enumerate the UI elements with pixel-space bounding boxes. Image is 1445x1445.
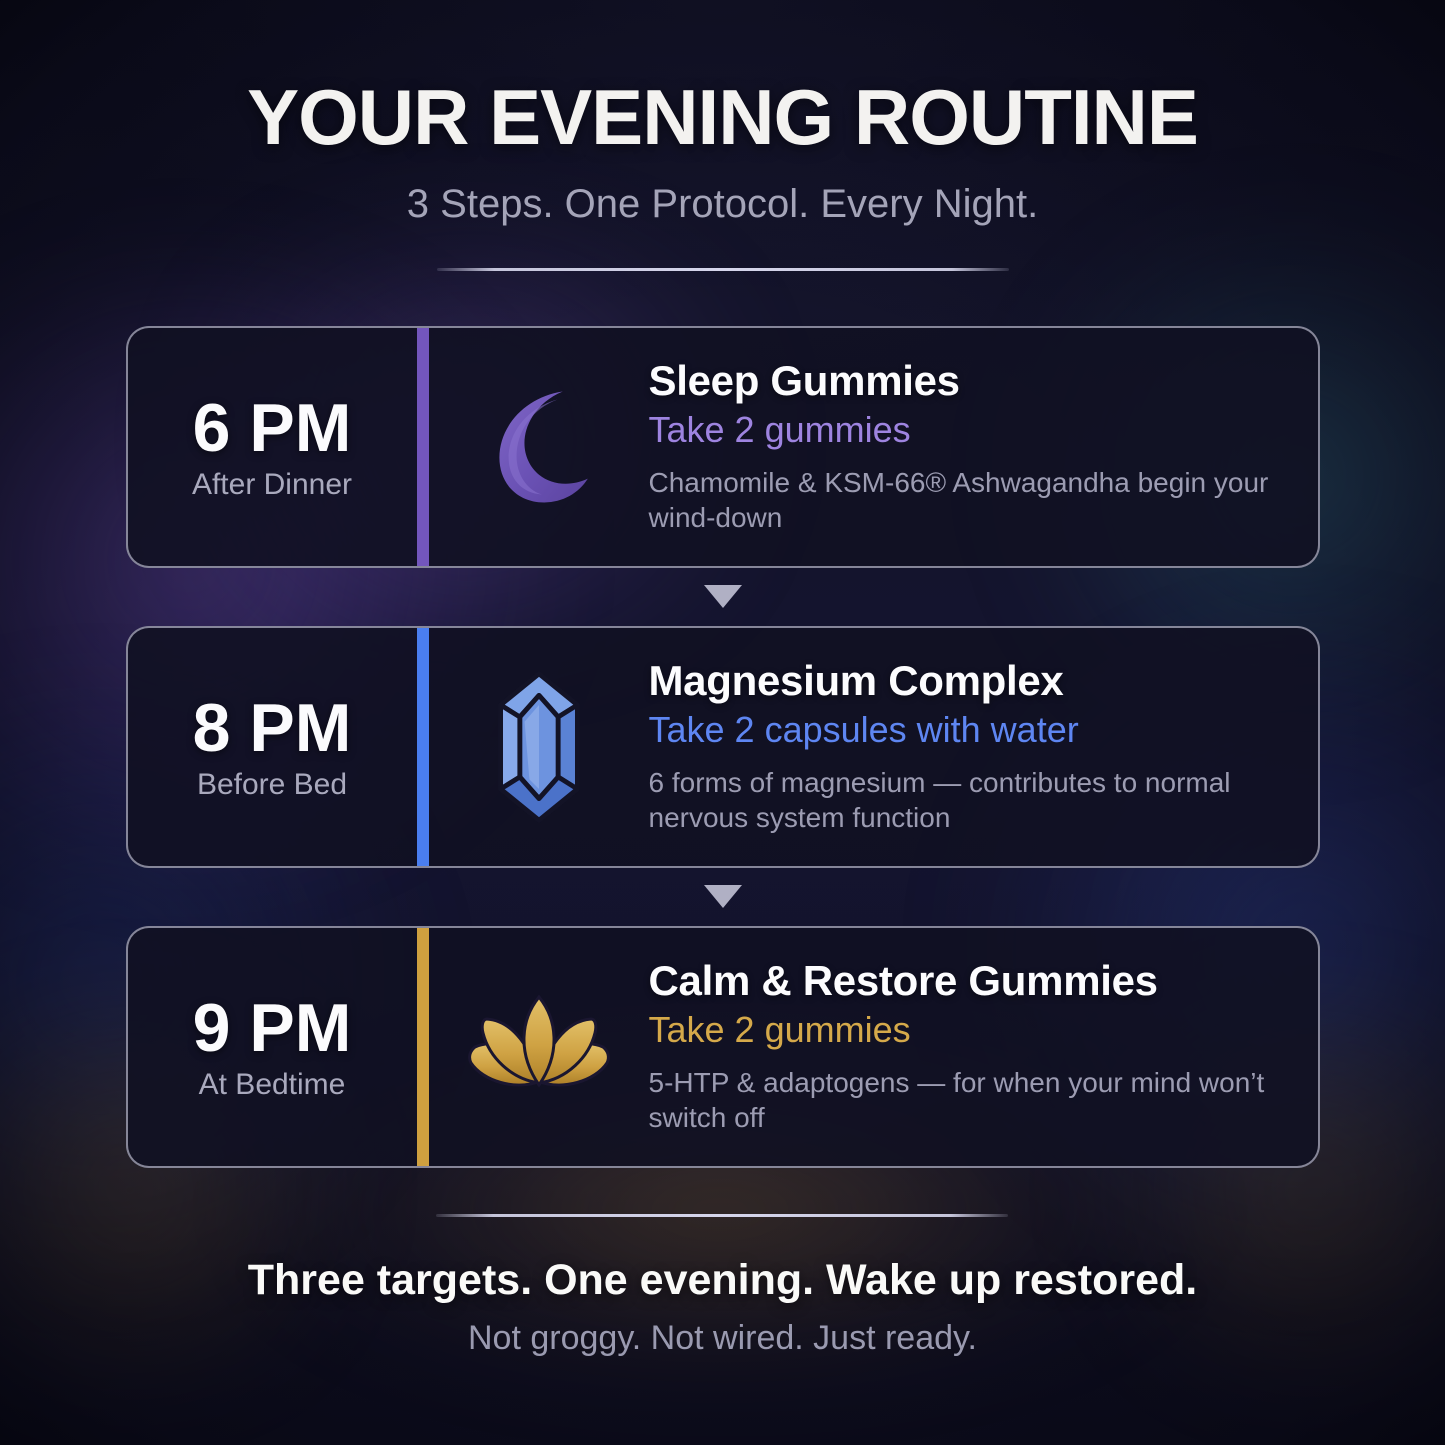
routine-step-card[interactable]: 9 PM At Bedtime (126, 926, 1320, 1168)
step-time: 8 PM (193, 694, 352, 762)
routine-step-card[interactable]: 8 PM Before Bed (126, 626, 1320, 868)
step-when: At Bedtime (199, 1068, 346, 1101)
infographic-root: YOUR EVENING ROUTINE 3 Steps. One Protoc… (0, 0, 1445, 1445)
step-time: 6 PM (193, 394, 352, 462)
divider-bottom (436, 1214, 1008, 1217)
step-icon-wrap (429, 328, 649, 566)
arrow-down-icon (704, 585, 742, 609)
step-description: 5-HTP & adaptogens — for when your mind … (649, 1065, 1290, 1137)
footer-headline: Three targets. One evening. Wake up rest… (248, 1257, 1197, 1304)
step-time: 9 PM (193, 994, 352, 1062)
step-heading: Magnesium Complex (649, 658, 1290, 703)
arrow-down-icon (704, 885, 742, 909)
step-when: Before Bed (197, 768, 347, 801)
page-subtitle: 3 Steps. One Protocol. Every Night. (407, 182, 1038, 226)
step-time-column: 8 PM Before Bed (128, 628, 417, 866)
step-text-column: Magnesium Complex Take 2 capsules with w… (649, 628, 1318, 866)
step-text-column: Sleep Gummies Take 2 gummies Chamomile &… (649, 328, 1318, 566)
step-connector (126, 868, 1320, 926)
routine-steps-list: 6 PM After Dinner (126, 326, 1320, 1168)
step-dose: Take 2 capsules with water (649, 709, 1290, 750)
step-heading: Sleep Gummies (649, 358, 1290, 403)
gem-icon (479, 669, 599, 825)
step-icon-wrap (429, 628, 649, 866)
step-time-column: 6 PM After Dinner (128, 328, 417, 566)
step-connector (126, 568, 1320, 626)
routine-step-card[interactable]: 6 PM After Dinner (126, 326, 1320, 568)
step-accent-bar (417, 928, 429, 1166)
divider-top (437, 268, 1009, 271)
step-description: Chamomile & KSM-66® Ashwagandha begin yo… (649, 465, 1290, 537)
page-title: YOUR EVENING ROUTINE (247, 78, 1198, 156)
step-description: 6 forms of magnesium — contributes to no… (649, 765, 1290, 837)
step-accent-bar (417, 328, 429, 566)
step-accent-bar (417, 628, 429, 866)
step-dose: Take 2 gummies (649, 409, 1290, 450)
footer: Three targets. One evening. Wake up rest… (248, 1214, 1197, 1358)
step-when: After Dinner (192, 468, 352, 501)
step-time-column: 9 PM At Bedtime (128, 928, 417, 1166)
step-heading: Calm & Restore Gummies (649, 958, 1290, 1003)
footer-subtext: Not groggy. Not wired. Just ready. (468, 1320, 977, 1357)
step-text-column: Calm & Restore Gummies Take 2 gummies 5-… (649, 928, 1318, 1166)
lotus-flower-icon (457, 991, 621, 1103)
step-icon-wrap (429, 928, 649, 1166)
crescent-moon-icon (473, 381, 605, 513)
step-dose: Take 2 gummies (649, 1009, 1290, 1050)
